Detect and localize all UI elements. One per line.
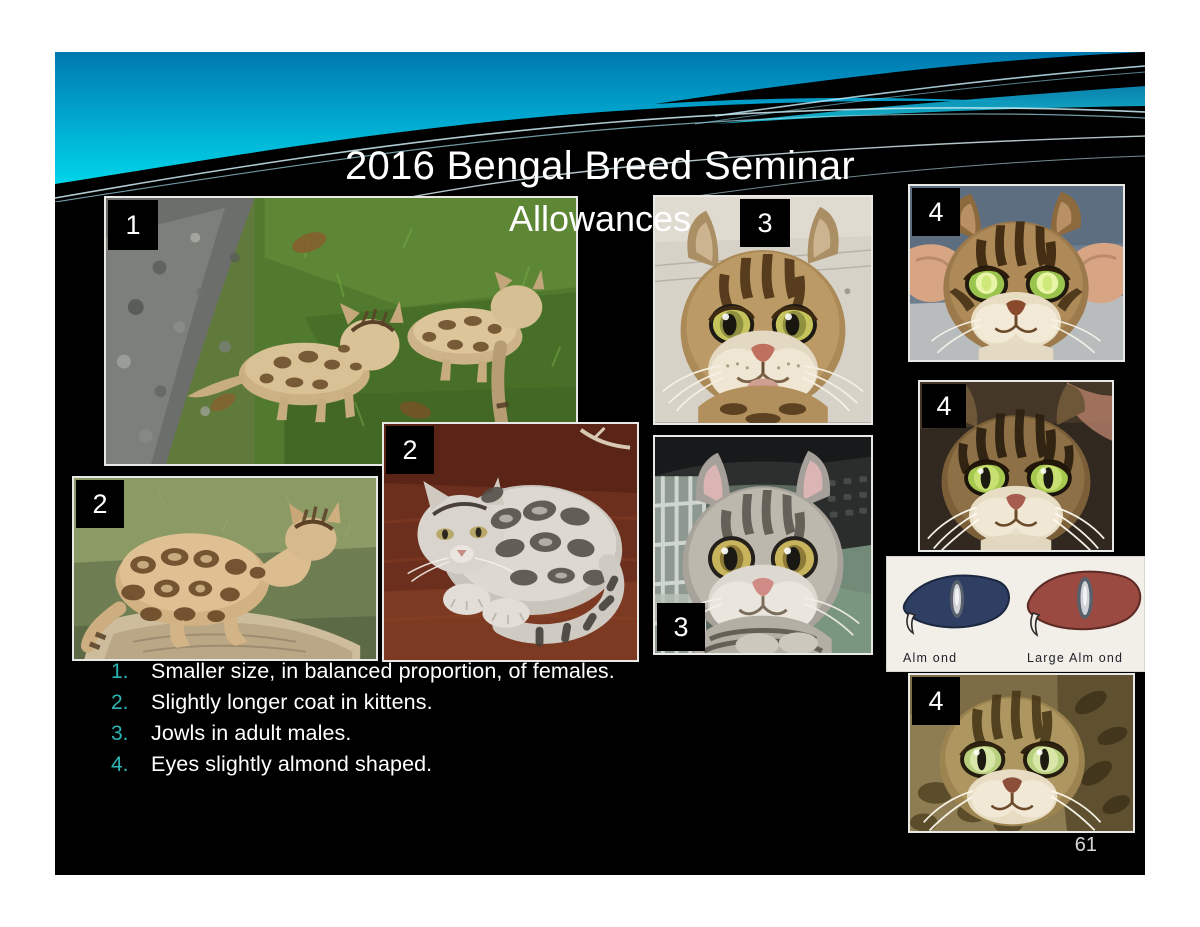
photo-silver-kitten[interactable]: 2	[382, 422, 639, 662]
slide-title: 2016 Bengal Breed Seminar	[55, 145, 1145, 187]
photo-badge-4c: 4	[912, 677, 960, 725]
photo-badge-2b: 2	[386, 426, 434, 474]
presentation-slide: 2016 Bengal Breed Seminar Allowances	[55, 52, 1145, 875]
list-item-text: Eyes slightly almond shaped.	[151, 752, 432, 777]
eye-label-almond: Alm ond	[903, 651, 957, 665]
photo-cat-in-carrier[interactable]: 3	[653, 435, 873, 655]
list-item: 4. Eyes slightly almond shaped.	[95, 752, 735, 777]
list-item: 3. Jowls in adult males.	[95, 721, 735, 746]
list-item: 2. Slightly longer coat in kittens.	[95, 690, 735, 715]
list-item-text: Jowls in adult males.	[151, 721, 351, 746]
list-item: 1. Smaller size, in balanced proportion,…	[95, 659, 735, 684]
photo-bengal-kitten-closeup[interactable]: 4	[908, 673, 1135, 833]
photo-badge-4b: 4	[922, 384, 966, 428]
slide-subtitle: Allowances	[55, 200, 1145, 238]
photo-bengal-crouching[interactable]: 2	[72, 476, 378, 661]
photo-badge-3b: 3	[657, 603, 705, 651]
list-item-number: 1.	[95, 660, 151, 684]
list-item-number: 4.	[95, 753, 151, 777]
list-item-number: 2.	[95, 691, 151, 715]
list-item-text: Smaller size, in balanced proportion, of…	[151, 659, 615, 684]
page-root: 2016 Bengal Breed Seminar Allowances	[0, 0, 1200, 927]
eye-label-large-almond: Large Alm ond	[1027, 651, 1123, 665]
slide-number: 61	[1075, 834, 1097, 857]
list-item-number: 3.	[95, 722, 151, 746]
allowances-list: 1. Smaller size, in balanced proportion,…	[95, 659, 735, 783]
photo-badge-2a: 2	[76, 480, 124, 528]
photo-bengal-face-closeup[interactable]: 4	[918, 380, 1114, 552]
list-item-text: Slightly longer coat in kittens.	[151, 690, 433, 715]
eye-shape-diagram[interactable]: Alm ond Large Alm ond	[886, 556, 1145, 672]
